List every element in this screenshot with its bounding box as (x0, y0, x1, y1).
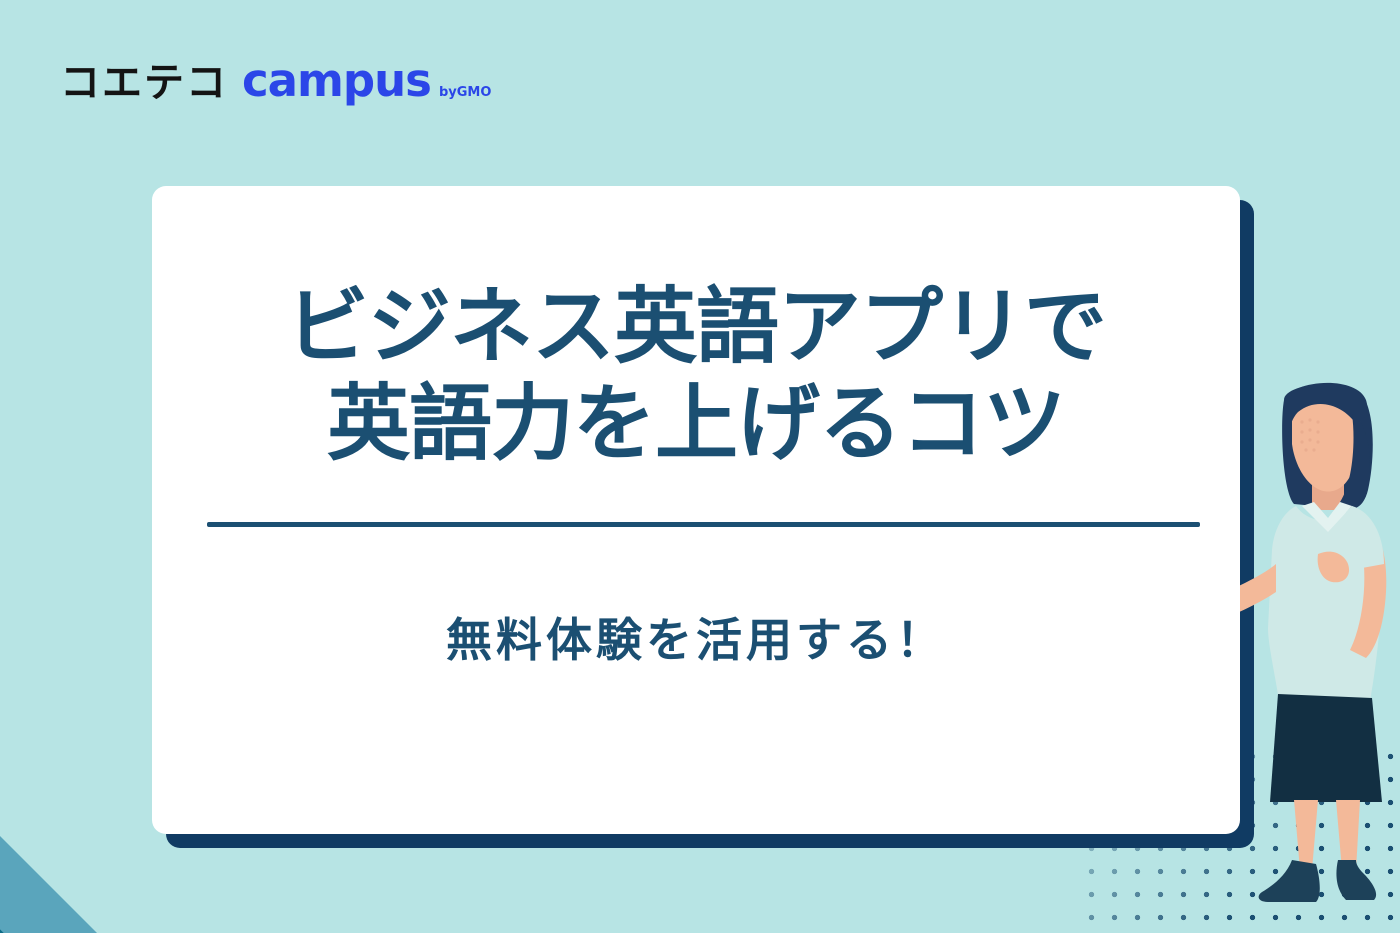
card-title-block: ビジネス英語アプリで 英語力を上げるコツ (152, 278, 1240, 472)
brand-logo[interactable]: コエテコ campus byGMO (60, 58, 491, 103)
left-leg-shape (1294, 800, 1318, 870)
card-subtitle: 無料体験を活用する！ (152, 604, 1240, 670)
standing-woman-illustration (1240, 378, 1400, 906)
left-shoe-shape (1259, 860, 1320, 902)
stripe-mid-blue-tr-2 (1372, 0, 1400, 429)
logo-text-koeteko: コエテコ (60, 63, 228, 103)
banner-canvas: ビジネス英語アプリで 英語力を上げるコツ 無料体験を活用する！ (0, 0, 1400, 933)
skirt-shape (1270, 694, 1382, 802)
right-shoe-shape (1336, 860, 1376, 900)
main-card: ビジネス英語アプリで 英語力を上げるコツ 無料体験を活用する！ (152, 186, 1240, 834)
stripe-teal-tr-1 (1276, 0, 1400, 429)
logo-text-campus: campus (242, 58, 431, 103)
logo-text-bygmo: byGMO (439, 86, 491, 99)
card-divider (207, 522, 1200, 527)
card-title-line-1: ビジネス英語アプリで (152, 278, 1240, 375)
stripe-teal-bl-2 (0, 880, 650, 933)
stripe-light-bl-2 (0, 846, 650, 933)
stripe-light-tr-2 (1240, 0, 1400, 429)
right-leg-shape (1336, 800, 1360, 870)
card-title-line-2: 英語力を上げるコツ (152, 375, 1240, 472)
